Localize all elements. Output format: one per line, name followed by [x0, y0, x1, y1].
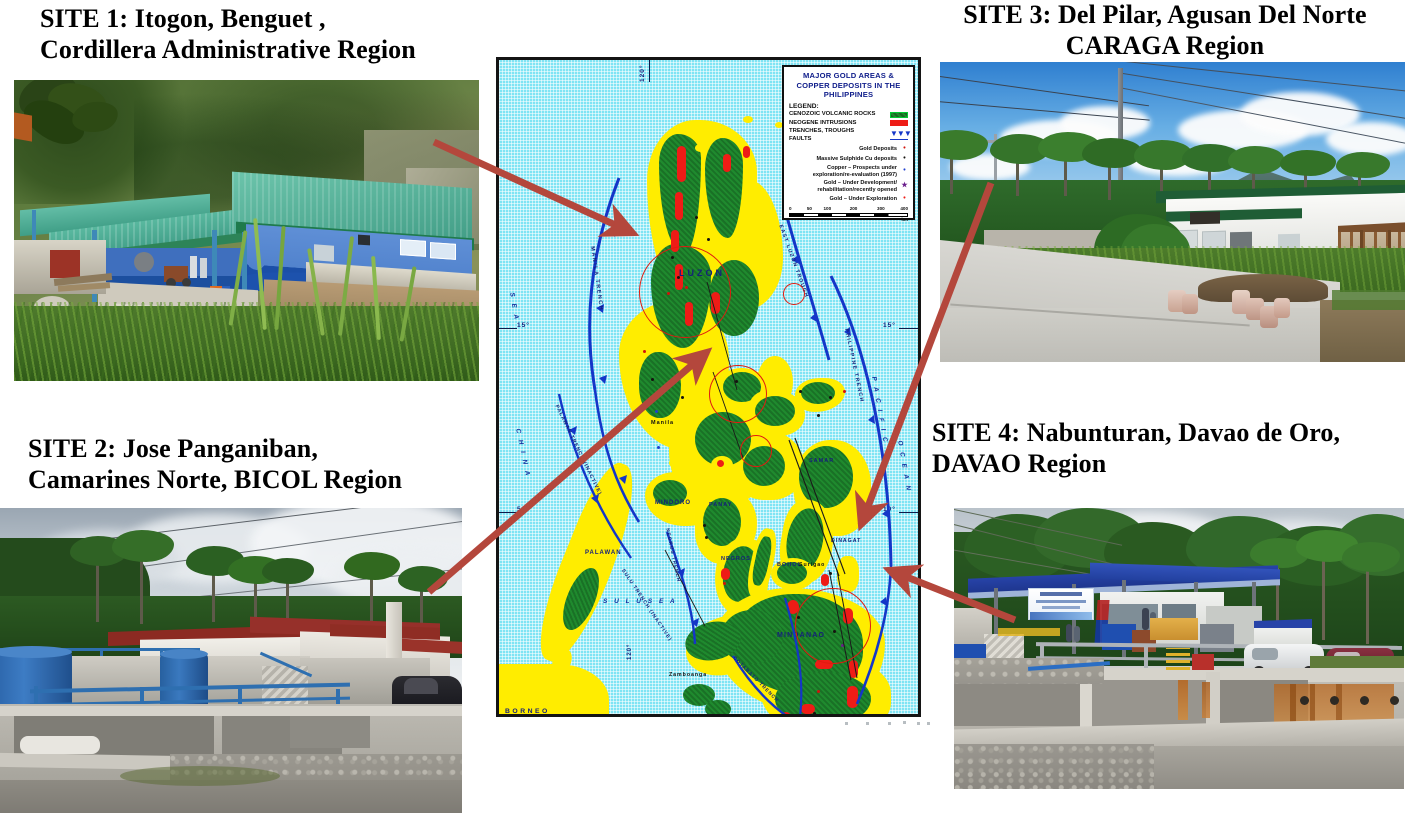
legend-label-neogene: NEOGENE INTRUSIONS: [789, 120, 856, 127]
legend-symbol-massive-sulphide: •: [901, 155, 908, 163]
site-3-photo: [940, 62, 1405, 362]
highlight-circle-offshore: [783, 283, 805, 305]
site-4-photo: [954, 508, 1404, 789]
scale-tick-50: 50: [807, 206, 812, 211]
legend-swatch-trench-ticks: ▼▼▼: [890, 129, 908, 135]
site-1-caption: SITE 1: Itogon, Benguet , Cordillera Adm…: [40, 4, 480, 65]
scale-tick-100: 100: [824, 206, 832, 211]
scale-tick-200: 200: [850, 206, 858, 211]
scale-tick-0: 0: [789, 206, 792, 211]
legend-title: MAJOR GOLD AREAS & COPPER DEPOSITS IN TH…: [789, 71, 908, 100]
slide-canvas: SITE 1: Itogon, Benguet , Cordillera Adm…: [0, 0, 1405, 813]
legend-row-trenches: TRENCHES, TROUGHS ▼▼▼: [789, 128, 908, 135]
scale-bar-graphic: [789, 213, 908, 217]
site-2-photo: [0, 508, 462, 813]
legend-row-copper-prospects: Copper – Prospects under exploration/re-…: [789, 165, 908, 178]
legend-label-trenches: TRENCHES, TROUGHS: [789, 128, 854, 135]
legend-label-gold-deposits: Gold Deposits: [859, 146, 897, 153]
legend-row-neogene: NEOGENE INTRUSIONS: [789, 120, 908, 127]
legend-row-gold-deposits: Gold Deposits •: [789, 145, 908, 153]
site-3-caption: SITE 3: Del Pilar, Agusan Del Norte CARA…: [930, 0, 1400, 61]
legend-symbol-gold-deposits: •: [901, 145, 908, 153]
site-1-photo: [14, 80, 479, 381]
map-legend: MAJOR GOLD AREAS & COPPER DEPOSITS IN TH…: [782, 65, 915, 220]
legend-row-cenozoic: CENOZOIC VOLCANIC ROCKS: [789, 111, 908, 118]
scale-unit-label: km: [901, 217, 908, 222]
legend-label-gold-development: Gold – Under Development/ rehabilitation…: [817, 180, 897, 193]
legend-label-gold-exploration: Gold – Under Exploration: [830, 196, 897, 203]
site-4-caption: SITE 4: Nabunturan, Davao de Oro, DAVAO …: [932, 418, 1402, 479]
legend-swatch-green-hatch: [890, 112, 908, 118]
legend-swatch-red: [890, 120, 908, 126]
legend-subtitle: LEGEND:: [789, 103, 908, 110]
philippines-gold-copper-map: 120° 15° 15° 10° 5° 120° 125°: [496, 57, 921, 717]
site-2-caption: SITE 2: Jose Panganiban, Camarines Norte…: [28, 434, 468, 495]
scale-tick-300: 300: [877, 206, 885, 211]
legend-scale-bar: 0 50 100 200 300 400 km: [789, 206, 908, 222]
scale-tick-400: 400: [900, 206, 908, 211]
legend-label-cenozoic: CENOZOIC VOLCANIC ROCKS: [789, 111, 875, 118]
legend-symbol-gold-development: ★: [901, 182, 908, 190]
legend-row-gold-exploration: Gold – Under Exploration •: [789, 195, 908, 203]
highlight-circle-luzon: [639, 246, 731, 338]
legend-swatch-fault-line: [890, 139, 908, 140]
legend-label-massive-sulphide: Massive Sulphide Cu deposits: [816, 156, 897, 163]
highlight-circle-marinduque: [709, 365, 767, 423]
legend-symbol-gold-exploration: •: [901, 195, 908, 203]
highlight-circle-mindanao: [795, 588, 871, 664]
legend-row-massive-sulphide: Massive Sulphide Cu deposits •: [789, 155, 908, 163]
legend-symbol-copper-prospects: •: [901, 167, 908, 175]
legend-label-copper-prospects: Copper – Prospects under exploration/re-…: [813, 165, 897, 178]
map-label-sulu-sea: S U L U S E A: [603, 598, 677, 605]
legend-row-gold-development: Gold – Under Development/ rehabilitation…: [789, 180, 908, 193]
highlight-circle-masbate: [740, 435, 772, 467]
legend-label-faults: FAULTS: [789, 136, 811, 143]
